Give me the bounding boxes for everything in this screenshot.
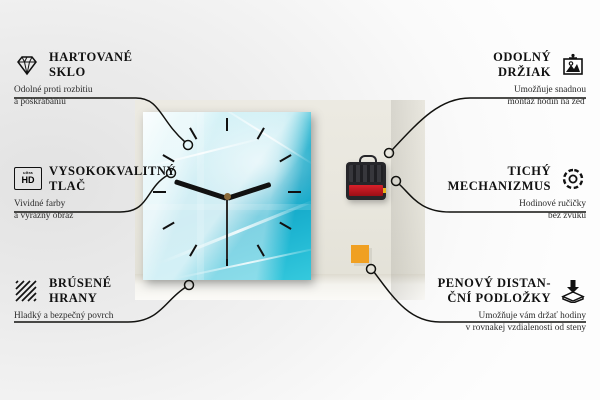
feature-description: Umožňuje vám držať hodiny v rovnakej vzd…	[396, 311, 586, 334]
feature-header: HARTOVANÉ SKLO	[14, 50, 190, 79]
feature-title: HARTOVANÉ SKLO	[49, 50, 132, 79]
feature-description: Vividné farby a výrazný obraz	[14, 199, 190, 222]
connector-dot-1	[184, 141, 193, 150]
feature-description: Hladký a bezpečný povrch	[14, 311, 190, 323]
feature-title: PENOVÝ DISTAN- ČNÍ PODLOŽKY	[438, 276, 551, 305]
feature-title: VYSOKOKVALITNÝ TLAČ	[49, 164, 176, 193]
feature-title: ODOLNÝ DRŽIAK	[493, 50, 551, 79]
feature-high-quality-print: ultra HD VYSOKOKVALITNÝ TLAČ Vividné far…	[14, 164, 190, 222]
feature-header: ODOLNÝ DRŽIAK	[410, 50, 586, 79]
feature-description: Hodinové ručičky bez zvuku	[410, 199, 586, 222]
picture-hanger-icon	[560, 53, 586, 77]
feature-header: PENOVÝ DISTAN- ČNÍ PODLOŽKY	[396, 276, 586, 305]
foam-pad-icon	[560, 279, 586, 303]
feature-title: BRÚSENÉ HRANY	[49, 276, 112, 305]
feature-header: ultra HD VYSOKOKVALITNÝ TLAČ	[14, 164, 190, 193]
infographic-canvas: HARTOVANÉ SKLO Odolné proti rozbitiu a p…	[0, 0, 600, 400]
feature-title: TICHÝ MECHANIZMUS	[448, 164, 551, 193]
feature-durable-hanger: ODOLNÝ DRŽIAK Umožňuje snadnou montáž ho…	[410, 50, 586, 108]
feature-silent-mechanism: TICHÝ MECHANIZMUS Hodinové ručičky bez z…	[410, 164, 586, 222]
brushed-edges-icon	[14, 279, 40, 303]
feature-header: TICHÝ MECHANIZMUS	[410, 164, 586, 193]
feature-tempered-glass: HARTOVANÉ SKLO Odolné proti rozbitiu a p…	[14, 50, 190, 108]
feature-brushed-edges: BRÚSENÉ HRANY Hladký a bezpečný povrch	[14, 276, 190, 323]
connector-dot-5	[392, 177, 401, 186]
connector-dot-6	[367, 265, 376, 274]
feature-description: Odolné proti rozbitiu a poškrábániu	[14, 85, 190, 108]
feature-description: Umožňuje snadnou montáž hodin na zeď	[410, 85, 586, 108]
ultra-hd-main-label: HD	[22, 176, 35, 185]
diamond-icon	[14, 53, 40, 77]
connector-dot-4	[385, 149, 394, 158]
ultra-hd-icon: ultra HD	[14, 167, 40, 191]
gear-icon	[560, 167, 586, 191]
feature-header: BRÚSENÉ HRANY	[14, 276, 190, 305]
feature-foam-spacers: PENOVÝ DISTAN- ČNÍ PODLOŽKY Umožňuje vám…	[396, 276, 586, 334]
